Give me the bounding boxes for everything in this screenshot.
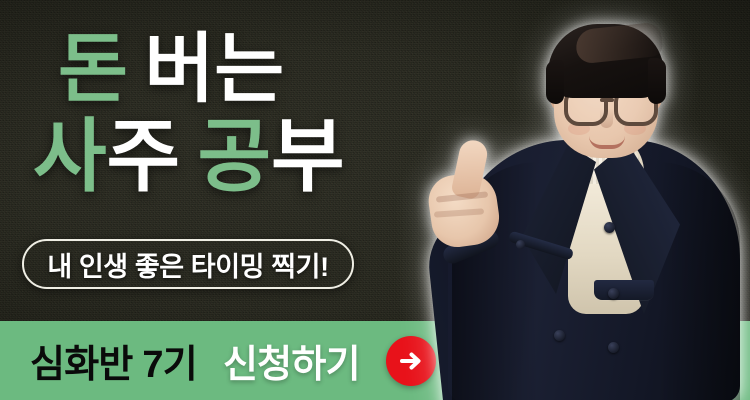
headline-token-don: 돈 bbox=[58, 27, 128, 112]
glasses-bridge bbox=[600, 98, 614, 102]
coat-pocket-flap bbox=[594, 280, 654, 300]
headline-token-sa: 사 bbox=[33, 112, 106, 201]
subtitle-pill: 내 인생 좋은 타이밍 찍기! bbox=[22, 239, 354, 289]
coat-epaulet-button bbox=[516, 240, 525, 249]
instructor-hair-side-right bbox=[648, 58, 666, 104]
cta-content: 심화반 7기 신청하기 bbox=[0, 333, 436, 388]
instructor-hair-side-left bbox=[546, 60, 564, 104]
coat-button bbox=[604, 222, 615, 233]
cta-course-label: 심화반 7기 bbox=[30, 333, 197, 388]
headline-token-bu: 부 bbox=[271, 112, 344, 201]
subtitle-text: 내 인생 좋은 타이밍 찍기! bbox=[47, 245, 328, 284]
headline: 돈버는 사주공부 bbox=[58, 34, 344, 196]
coat-shade-right bbox=[658, 162, 740, 400]
headline-token-gong: 공 bbox=[198, 112, 271, 201]
headline-token-ju: 주 bbox=[106, 112, 179, 201]
headline-line-1: 돈버는 bbox=[58, 34, 344, 107]
coat-button bbox=[554, 330, 565, 341]
cta-apply-label[interactable]: 신청하기 bbox=[223, 333, 360, 388]
headline-line-2: 사주공부 bbox=[33, 119, 344, 196]
promo-banner: 돈버는 사주공부 내 인생 좋은 타이밍 찍기! bbox=[0, 0, 750, 400]
coat-button bbox=[608, 342, 619, 353]
headline-token-beoneun: 버는 bbox=[144, 27, 284, 112]
coat-button bbox=[608, 288, 619, 299]
instructor-photo bbox=[426, 12, 750, 400]
